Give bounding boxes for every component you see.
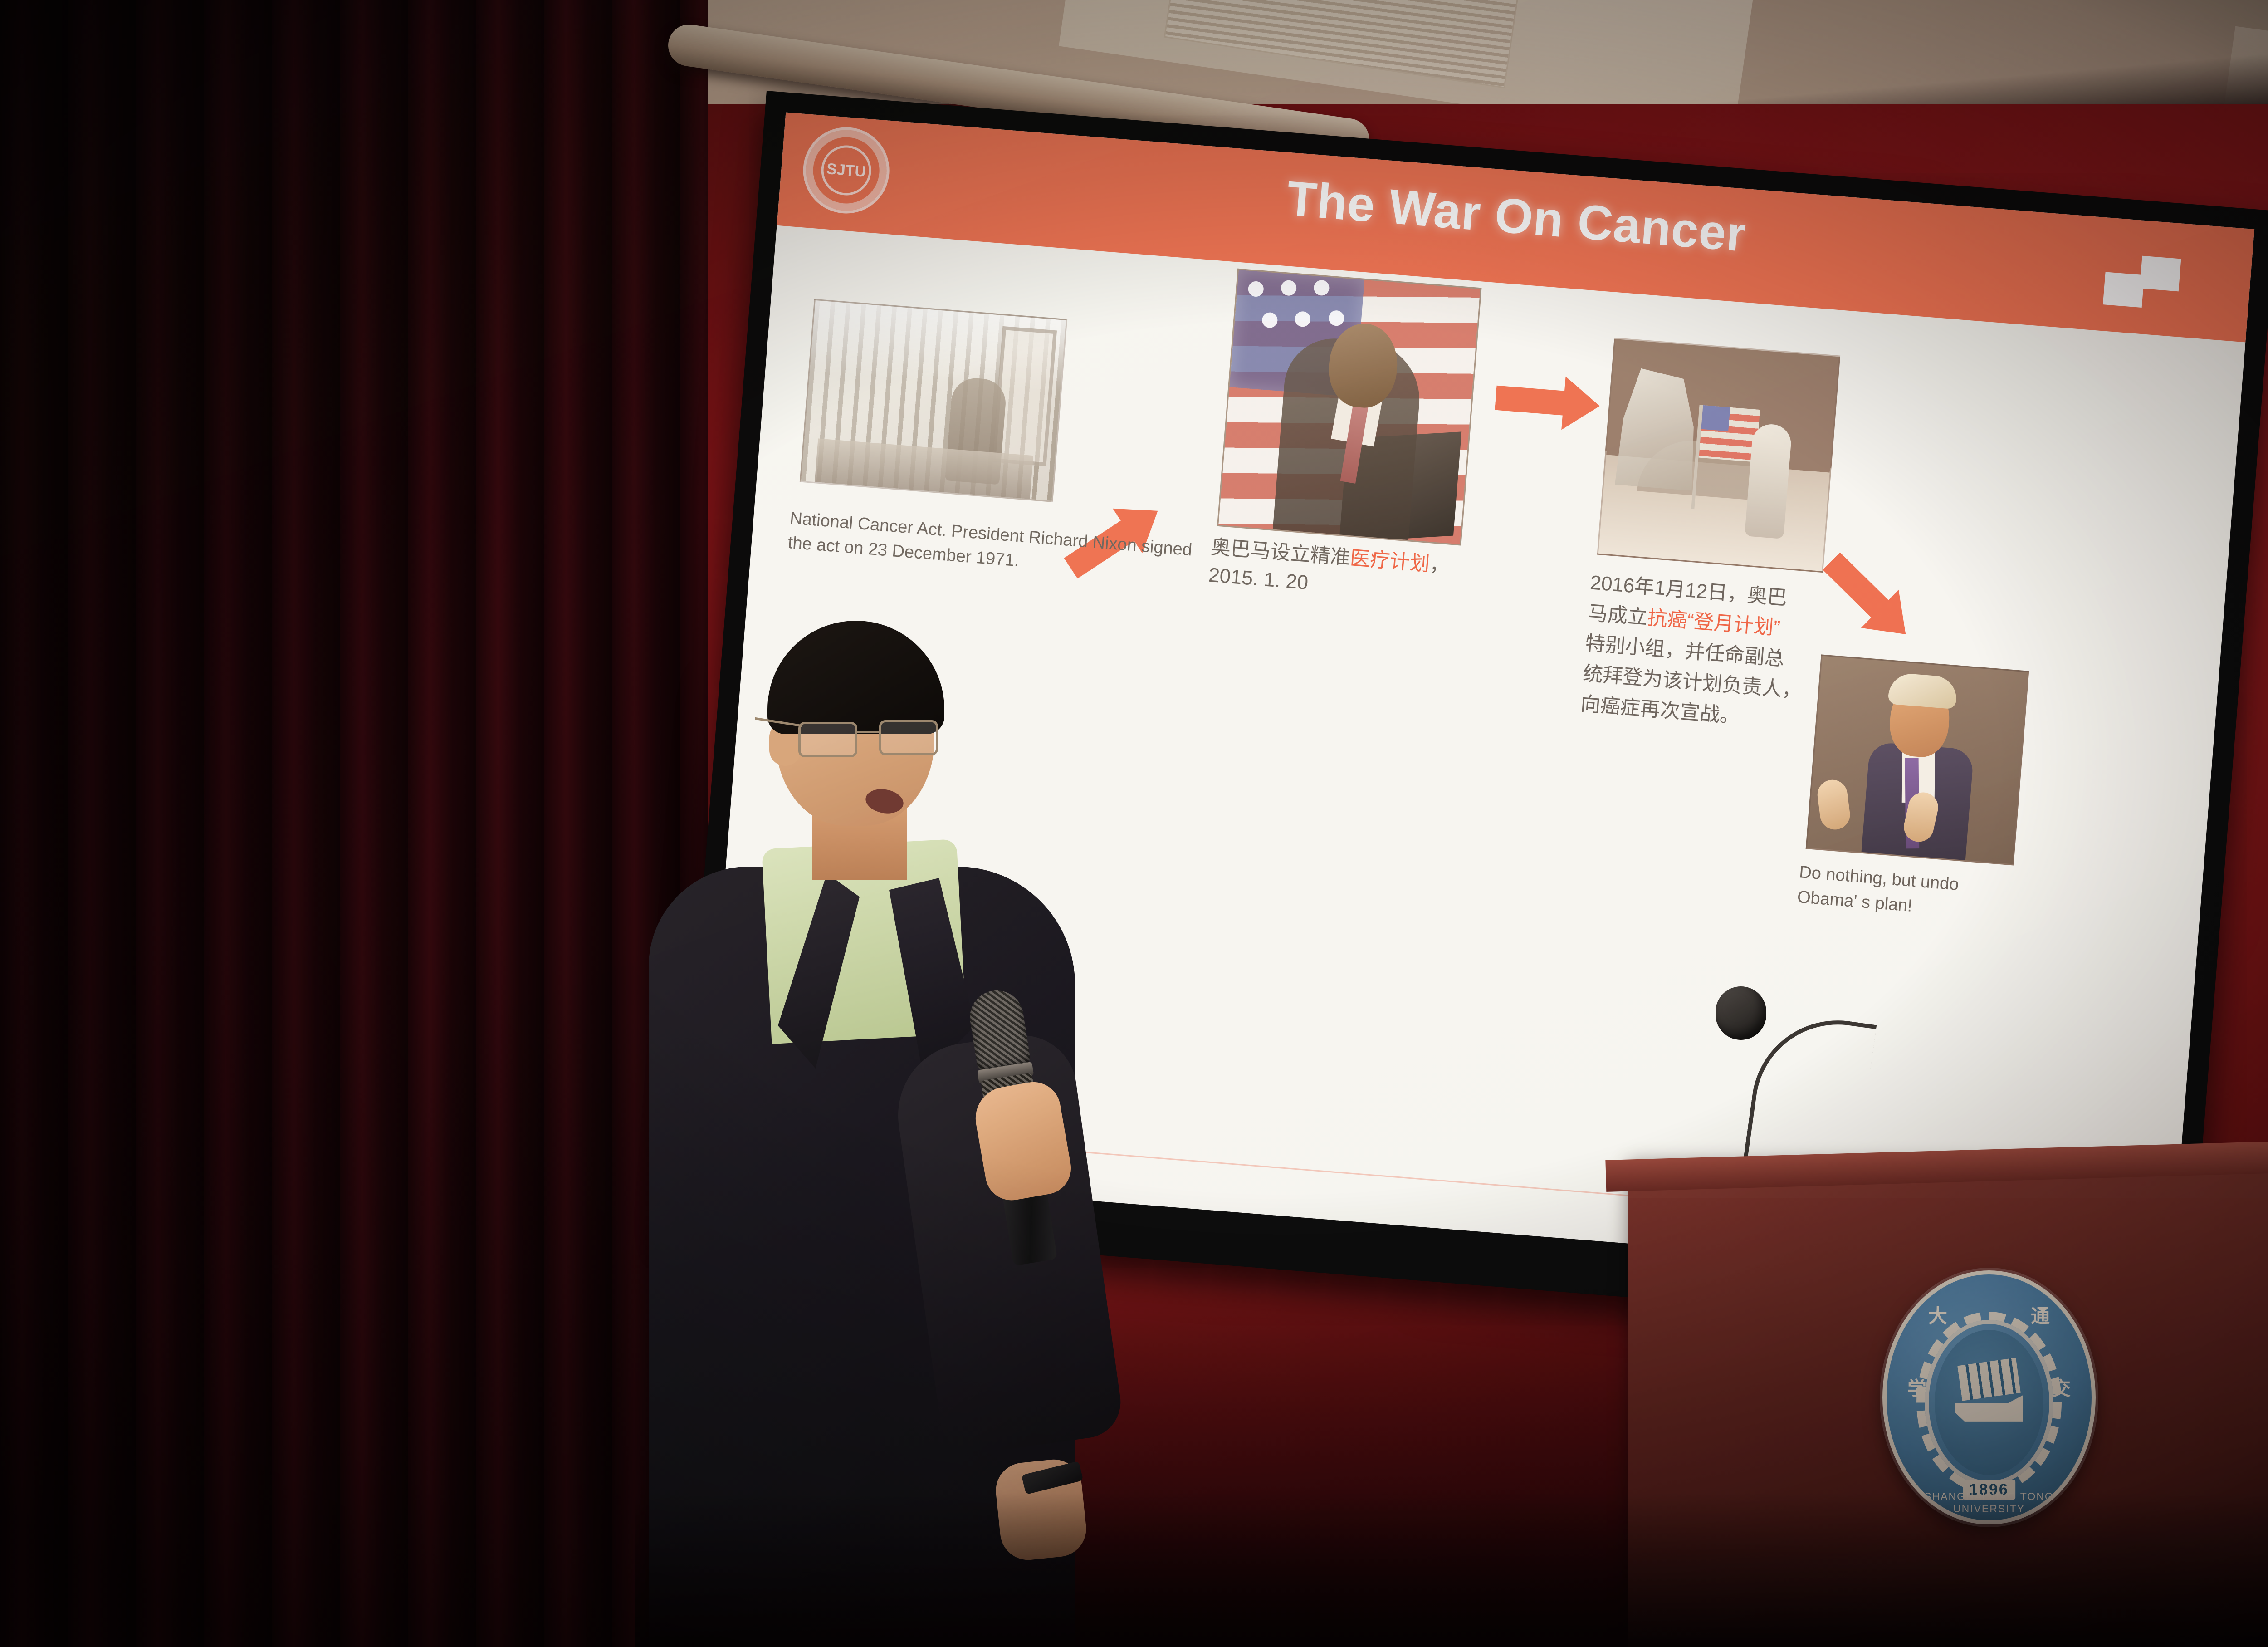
speaker-hair [767,621,944,734]
nixon-signing-photo [800,299,1067,502]
caption-trump-line2: Obama' s plan! [1797,887,1913,916]
floor-shadow [635,1493,2268,1647]
speaker-glasses-icon [798,719,953,760]
sjtu-seal-emblem: 大 通 学 交 1896 SHANGHAI JIAO TONG UNIVERSI… [1882,1270,2096,1524]
caption-obama-line2: 2015. 1. 20 [1207,564,1309,594]
seal-inner-medallion [1935,1330,2043,1475]
seal-char-1: 大 [1928,1301,1947,1328]
seal-char-2: 通 [2031,1301,2050,1328]
caption-moon-line1: 2016年1月12日，奥巴 [1589,572,1788,609]
lecture-hall-scene: SJTU The War On Cancer [0,0,2268,1647]
caption-trump: Do nothing, but undo Obama' s plan! [1796,860,2035,928]
caption-obama-comma: ， [1429,553,1451,577]
moon-landing-photo [1597,338,1841,573]
arrow-obama-to-moon-icon [1493,368,1602,436]
caption-moon-highlight: 抗癌“登月计划” [1647,607,1781,639]
caption-moon-line5: 向癌症再次宣战。 [1580,692,1741,727]
header-decoration-squares [2102,253,2193,314]
trump-speech-photo [1806,654,2029,865]
caption-moon: 2016年1月12日，奥巴 马成立抗癌“登月计划” 特别小组，并任命副总 统拜登… [1579,568,1845,740]
caption-obama-highlight: 医疗计划 [1349,547,1430,575]
caption-moon-line2-pre: 马成立 [1587,602,1648,628]
podium-microphone-head[interactable] [1716,986,1766,1040]
caption-obama-line1: 奥巴马设立精准 [1210,536,1351,569]
obama-speech-photo [1217,269,1482,546]
stage-curtain [0,0,708,1647]
seal-books-icon [1957,1358,2021,1401]
